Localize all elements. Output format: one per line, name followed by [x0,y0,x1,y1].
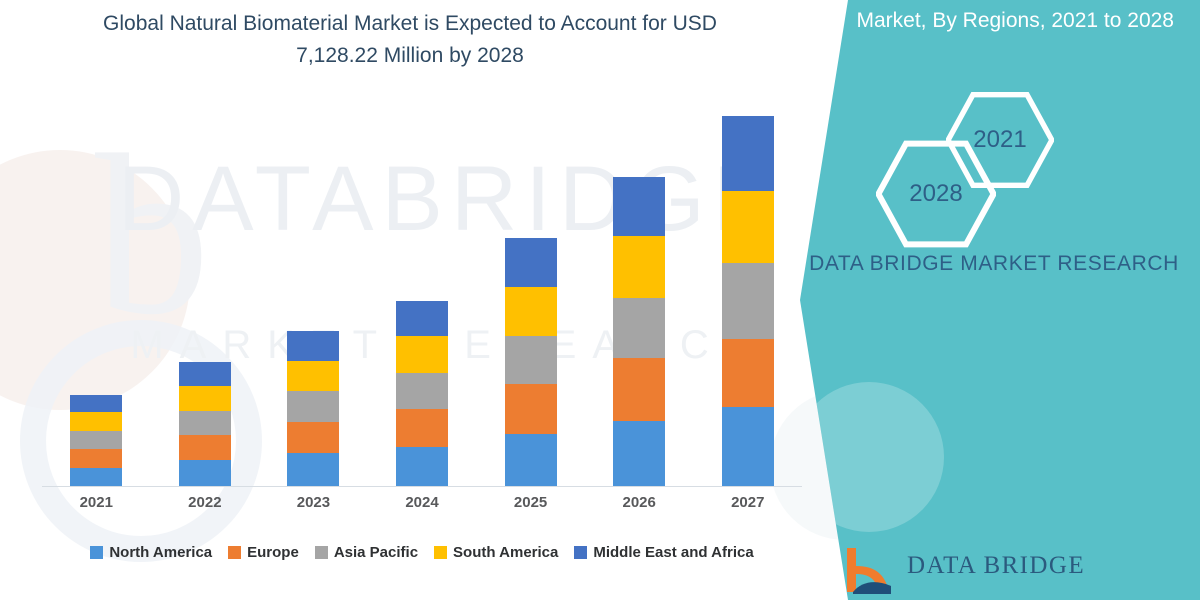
hexagon-2028: 2028 [876,140,996,248]
panel-decorative-circle [794,382,944,532]
bar-segment[interactable] [287,453,339,486]
bar-segment[interactable] [179,411,231,435]
chart-title: Global Natural Biomaterial Market is Exp… [60,8,760,71]
bar-segment[interactable] [287,422,339,454]
bar-segment[interactable] [287,331,339,360]
bar-segment[interactable] [505,336,557,384]
bar-segment[interactable] [70,431,122,450]
x-axis-line [42,486,802,487]
x-axis-tick: 2026 [585,494,694,520]
right-panel: Market, By Regions, 2021 to 2028 2021 20… [800,0,1200,600]
bar-segment[interactable] [287,361,339,391]
bar-segment[interactable] [613,177,665,236]
legend-swatch-icon [315,546,328,559]
bar-segment[interactable] [179,435,231,460]
stacked-bar[interactable] [70,395,122,486]
bar-segment[interactable] [179,362,231,386]
stacked-bar[interactable] [287,331,339,486]
bar-group [693,116,802,486]
bar-series-container [42,95,802,486]
legend-label: South America [453,544,558,561]
bar-segment[interactable] [505,238,557,287]
bar-group [42,395,151,486]
legend-item[interactable]: South America [434,544,558,561]
stacked-bar[interactable] [505,238,557,486]
bar-segment[interactable] [396,336,448,373]
bar-segment[interactable] [179,386,231,411]
bar-segment[interactable] [70,449,122,468]
legend-swatch-icon [434,546,447,559]
legend-label: Asia Pacific [334,544,418,561]
legend-label: Middle East and Africa [593,544,753,561]
legend-swatch-icon [228,546,241,559]
bar-segment[interactable] [396,301,448,336]
panel-brand-text: DATA BRIDGE MARKET RESEARCH [800,248,1188,280]
legend-item[interactable]: Middle East and Africa [574,544,753,561]
legend-swatch-icon [90,546,103,559]
bar-segment[interactable] [179,460,231,486]
bar-segment[interactable] [287,391,339,421]
bar-group [151,362,260,486]
bar-segment[interactable] [396,447,448,486]
legend-item[interactable]: North America [90,544,212,561]
bar-segment[interactable] [722,407,774,486]
bar-segment[interactable] [70,468,122,487]
legend-label: Europe [247,544,299,561]
bar-segment[interactable] [722,116,774,191]
bar-segment[interactable] [722,339,774,407]
bar-segment[interactable] [396,409,448,447]
chart-canvas: b DATABRIDGE MARKET RESEARCH Global Natu… [0,0,1200,600]
bar-segment[interactable] [613,358,665,421]
stacked-bar[interactable] [722,116,774,486]
x-axis-tick: 2024 [368,494,477,520]
hexagon-2028-label: 2028 [876,140,996,248]
panel-title: Market, By Regions, 2021 to 2028 [844,6,1174,36]
bar-group [585,177,694,486]
bar-segment[interactable] [613,421,665,486]
bar-segment[interactable] [505,287,557,336]
bar-segment[interactable] [722,191,774,263]
bar-segment[interactable] [505,434,557,486]
stacked-bar[interactable] [613,177,665,486]
footer-logo: DATA BRIDGE [845,540,1175,598]
bar-segment[interactable] [722,263,774,339]
x-axis-tick: 2021 [42,494,151,520]
bar-segment[interactable] [70,412,122,431]
bar-group [259,331,368,486]
footer-logo-text: DATA BRIDGE [907,552,1085,580]
x-axis-tick: 2022 [151,494,260,520]
hexagon-badges: 2021 2028 [838,92,1138,222]
x-axis-tick: 2025 [476,494,585,520]
legend-item[interactable]: Asia Pacific [315,544,418,561]
x-axis-tick: 2023 [259,494,368,520]
data-bridge-logo-icon [845,546,897,594]
bar-segment[interactable] [70,395,122,412]
chart-legend: North AmericaEuropeAsia PacificSouth Ame… [42,538,802,566]
stacked-bar[interactable] [396,301,448,486]
bar-group [476,238,585,486]
bar-segment[interactable] [613,298,665,358]
legend-label: North America [109,544,212,561]
plot-area [42,95,802,487]
x-axis-tick: 2027 [693,494,802,520]
bar-segment[interactable] [396,373,448,409]
x-axis-labels: 2021202220232024202520262027 [42,494,802,520]
legend-item[interactable]: Europe [228,544,299,561]
bar-segment[interactable] [613,236,665,298]
legend-swatch-icon [574,546,587,559]
stacked-bar[interactable] [179,362,231,486]
bar-segment[interactable] [505,384,557,434]
bar-group [368,301,477,486]
